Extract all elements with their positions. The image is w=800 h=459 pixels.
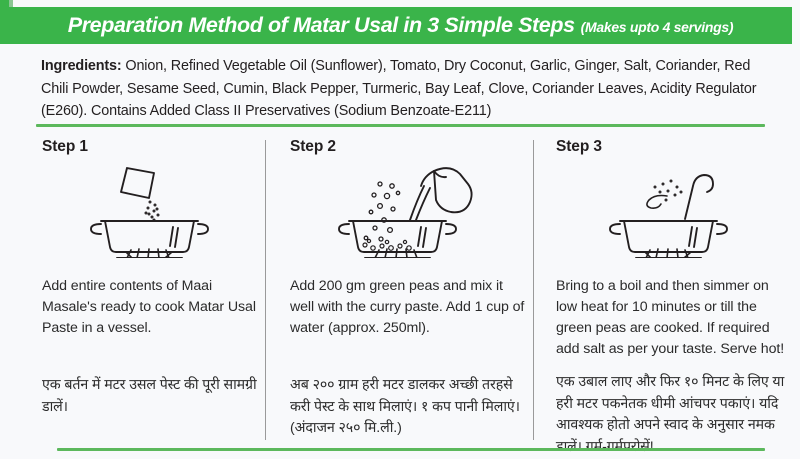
step-2-illustration: [290, 160, 525, 258]
pot-with-jug-pouring-water-icon: [318, 162, 498, 258]
step-2-hindi-text: अब २०० ग्राम हरी मटर डालकर अच्छी तरहसे क…: [290, 375, 525, 440]
ingredients-block: Ingredients: Onion, Refined Vegetable Oi…: [41, 55, 771, 123]
step-1-title: Step 1: [42, 138, 257, 156]
divider-bottom: [57, 448, 765, 451]
header-servings-note: (Makes upto 4 servings): [581, 19, 734, 35]
step-1-illustration: [42, 160, 257, 258]
step-3-title: Step 3: [556, 138, 786, 156]
step-column-2: Step 2: [290, 138, 525, 440]
steps-container: Step 1: [0, 138, 800, 440]
step-column-1: Step 1: [42, 138, 257, 418]
step-3-hindi-text: एक उबाल लाए और फिर १० मिनट के लिए या हरी…: [556, 372, 786, 458]
step-column-3: Step 3: [556, 138, 786, 458]
ingredients-label: Ingredients:: [41, 58, 122, 74]
header-left-accent-stripe: [0, 0, 9, 44]
header-banner: Preparation Method of Matar Usal in 3 Si…: [9, 7, 792, 44]
step-1-english-text: Add entire contents of Maai Masale's rea…: [42, 276, 257, 339]
page-title: Preparation Method of Matar Usal in 3 Si…: [68, 13, 575, 38]
step-2-title: Step 2: [290, 138, 525, 156]
recipe-card: Preparation Method of Matar Usal in 3 Si…: [0, 0, 800, 459]
pot-with-ladle-simmering-icon: [589, 162, 754, 258]
divider-top: [36, 124, 765, 127]
ingredients-list: Onion, Refined Vegetable Oil (Sunflower)…: [41, 58, 756, 119]
column-divider-1: [265, 140, 266, 440]
step-3-illustration: [556, 160, 786, 258]
step-2-english-text: Add 200 gm green peas and mix it well wi…: [290, 276, 525, 339]
column-divider-2: [533, 140, 534, 440]
step-1-hindi-text: एक बर्तन में मटर उसल पेस्ट की पूरी सामग्…: [42, 375, 257, 418]
step-3-english-text: Bring to a boil and then simmer on low h…: [556, 276, 786, 360]
pot-with-packet-pouring-icon: [70, 162, 230, 258]
